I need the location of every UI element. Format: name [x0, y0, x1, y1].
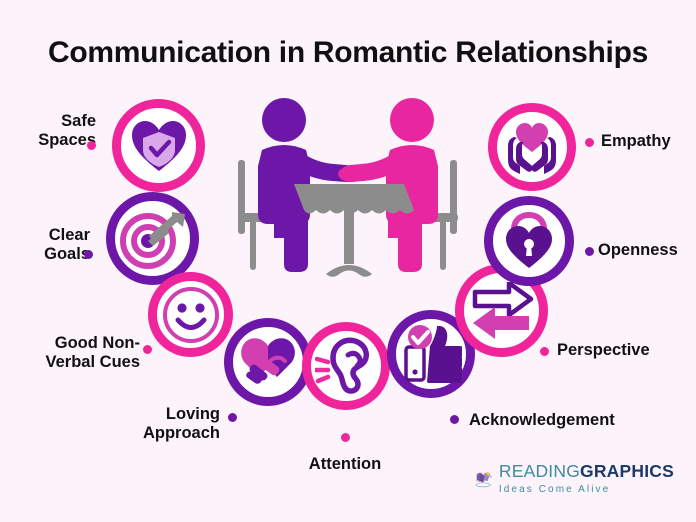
two-way-arrows-icon: [469, 282, 535, 340]
ear-listening-icon: [315, 337, 377, 395]
target-dart-icon: [119, 208, 187, 270]
two-people-at-table-illustration: [228, 96, 470, 278]
center-illustration: [228, 96, 470, 278]
dot-good-non-verbal-cues: [143, 345, 152, 354]
heart-padlock-open-icon: [500, 212, 558, 270]
open-book-with-stars-icon: [474, 459, 493, 499]
dot-openness: [585, 247, 594, 256]
logo-text: READINGGRAPHICS Ideas Come Alive: [499, 463, 674, 495]
label-empathy: Empathy: [601, 132, 696, 151]
dot-attention: [341, 433, 350, 442]
node-clear-goals[interactable]: [106, 192, 199, 285]
readingraphics-logo[interactable]: READINGGRAPHICS Ideas Come Alive: [474, 455, 674, 503]
logo-tagline: Ideas Come Alive: [499, 484, 674, 495]
label-openness: Openness: [598, 241, 696, 260]
dot-loving-approach: [228, 413, 237, 422]
heart-shield-icon: [130, 119, 188, 173]
dot-clear-goals: [84, 250, 93, 259]
dot-empathy: [585, 138, 594, 147]
node-safe-spaces[interactable]: [112, 99, 205, 192]
dot-acknowledgement: [450, 415, 459, 424]
label-safe-spaces: Safe Spaces: [0, 112, 96, 150]
node-empathy[interactable]: [488, 103, 576, 191]
dot-perspective: [540, 347, 549, 356]
node-attention[interactable]: [302, 322, 390, 410]
infographic-canvas: Communication in Romantic Relationships: [0, 0, 696, 522]
logo-word-reading: READING: [499, 461, 580, 481]
hands-holding-heart-icon: [502, 120, 562, 174]
thumbs-up-check-icon: [400, 325, 462, 383]
label-acknowledgement: Acknowledgement: [469, 411, 679, 430]
node-loving-approach[interactable]: [224, 318, 312, 406]
label-loving-approach: Loving Approach: [100, 405, 220, 443]
dot-safe-spaces: [87, 141, 96, 150]
logo-word-graphics: GRAPHICS: [580, 461, 674, 481]
heart-handshake-icon: [237, 336, 299, 388]
logo-wordmark: READINGGRAPHICS: [499, 463, 674, 481]
page-title: Communication in Romantic Relationships: [0, 36, 696, 70]
smiley-face-icon: [162, 286, 220, 344]
node-good-non-verbal-cues[interactable]: [148, 272, 233, 357]
label-good-non-verbal-cues: Good Non- Verbal Cues: [0, 334, 140, 372]
node-openness[interactable]: [484, 196, 574, 286]
label-attention: Attention: [285, 455, 405, 474]
label-clear-goals: Clear Goals: [0, 226, 90, 264]
label-perspective: Perspective: [557, 341, 696, 360]
